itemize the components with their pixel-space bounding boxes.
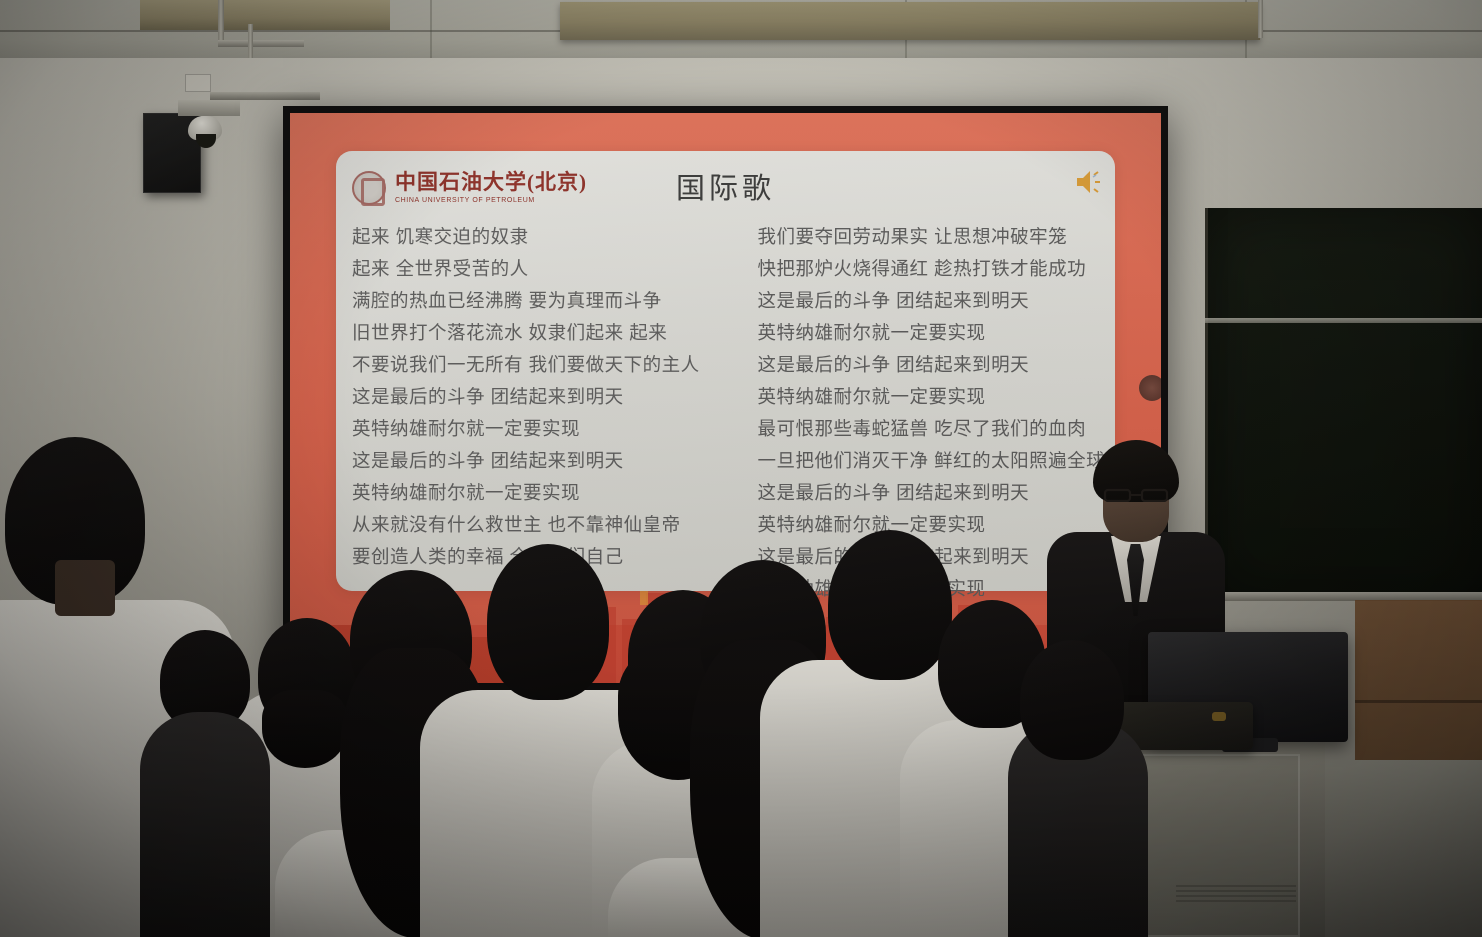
chalkboard [1205,208,1482,600]
lyric-line: 起来 全世界受苦的人 [352,253,710,285]
audience-member-body [140,712,270,937]
lyric-line: 英特纳雄耐尔就一定要实现 [352,413,710,445]
ceiling-pipe [218,0,224,44]
ceiling-pipe [218,40,304,47]
audience-member-head [828,530,952,680]
lyric-line: 这是最后的斗争 团结起来到明天 [758,285,1116,317]
lectern-inscription [1176,884,1296,902]
lyric-line: 英特纳雄耐尔就一定要实现 [352,477,710,509]
cabinet-seam [1355,700,1482,703]
lyric-line: 我们要夺回劳动果实 让思想冲破牢笼 [758,221,1116,253]
camera-mount [178,100,240,116]
lyric-line: 这是最后的斗争 团结起来到明天 [758,349,1116,381]
lyric-line: 这是最后的斗争 团结起来到明天 [352,381,710,413]
slide-title: 国际歌 [290,165,1161,207]
lyric-line: 满腔的热血已经沸腾 要为真理而斗争 [352,285,710,317]
ceiling-beam-secondary [140,0,390,30]
speaker-icon[interactable] [1075,169,1105,195]
chalkboard-rail [1205,318,1482,323]
screen-edge-knob [1139,375,1161,401]
classroom-scene: 中国石油大学(北京) CHINA UNIVERSITY OF PETROLEUM… [0,0,1482,937]
glasses-icon [1103,488,1169,502]
audience-member-head [1020,640,1124,760]
lyric-line: 这是最后的斗争 团结起来到明天 [352,445,710,477]
lyric-line: 快把那炉火烧得通红 趁热打铁才能成功 [758,253,1116,285]
wall-conduit [210,92,320,100]
lyrics-container: 起来 饥寒交迫的奴隶起来 全世界受苦的人满腔的热血已经沸腾 要为真理而斗争旧世界… [352,221,1115,605]
audience-member-neck [55,560,115,616]
lyric-line: 旧世界打个落花流水 奴隶们起来 起来 [352,317,710,349]
lyric-line: 起来 饥寒交迫的奴隶 [352,221,710,253]
lyric-line: 英特纳雄耐尔就一定要实现 [758,317,1116,349]
ceiling-pipe [248,24,253,58]
lyric-line: 不要说我们一无所有 我们要做天下的主人 [352,349,710,381]
audience-member-head [487,544,609,700]
ceiling-pipe [1258,0,1263,38]
ceiling-beam [560,2,1260,40]
lyric-line: 英特纳雄耐尔就一定要实现 [758,381,1116,413]
lyric-line: 从来就没有什么救世主 也不靠神仙皇帝 [352,509,710,541]
keyboard-indicator-icon [1212,712,1226,721]
wall-socket [185,74,211,92]
audience-member-hair [262,690,348,768]
